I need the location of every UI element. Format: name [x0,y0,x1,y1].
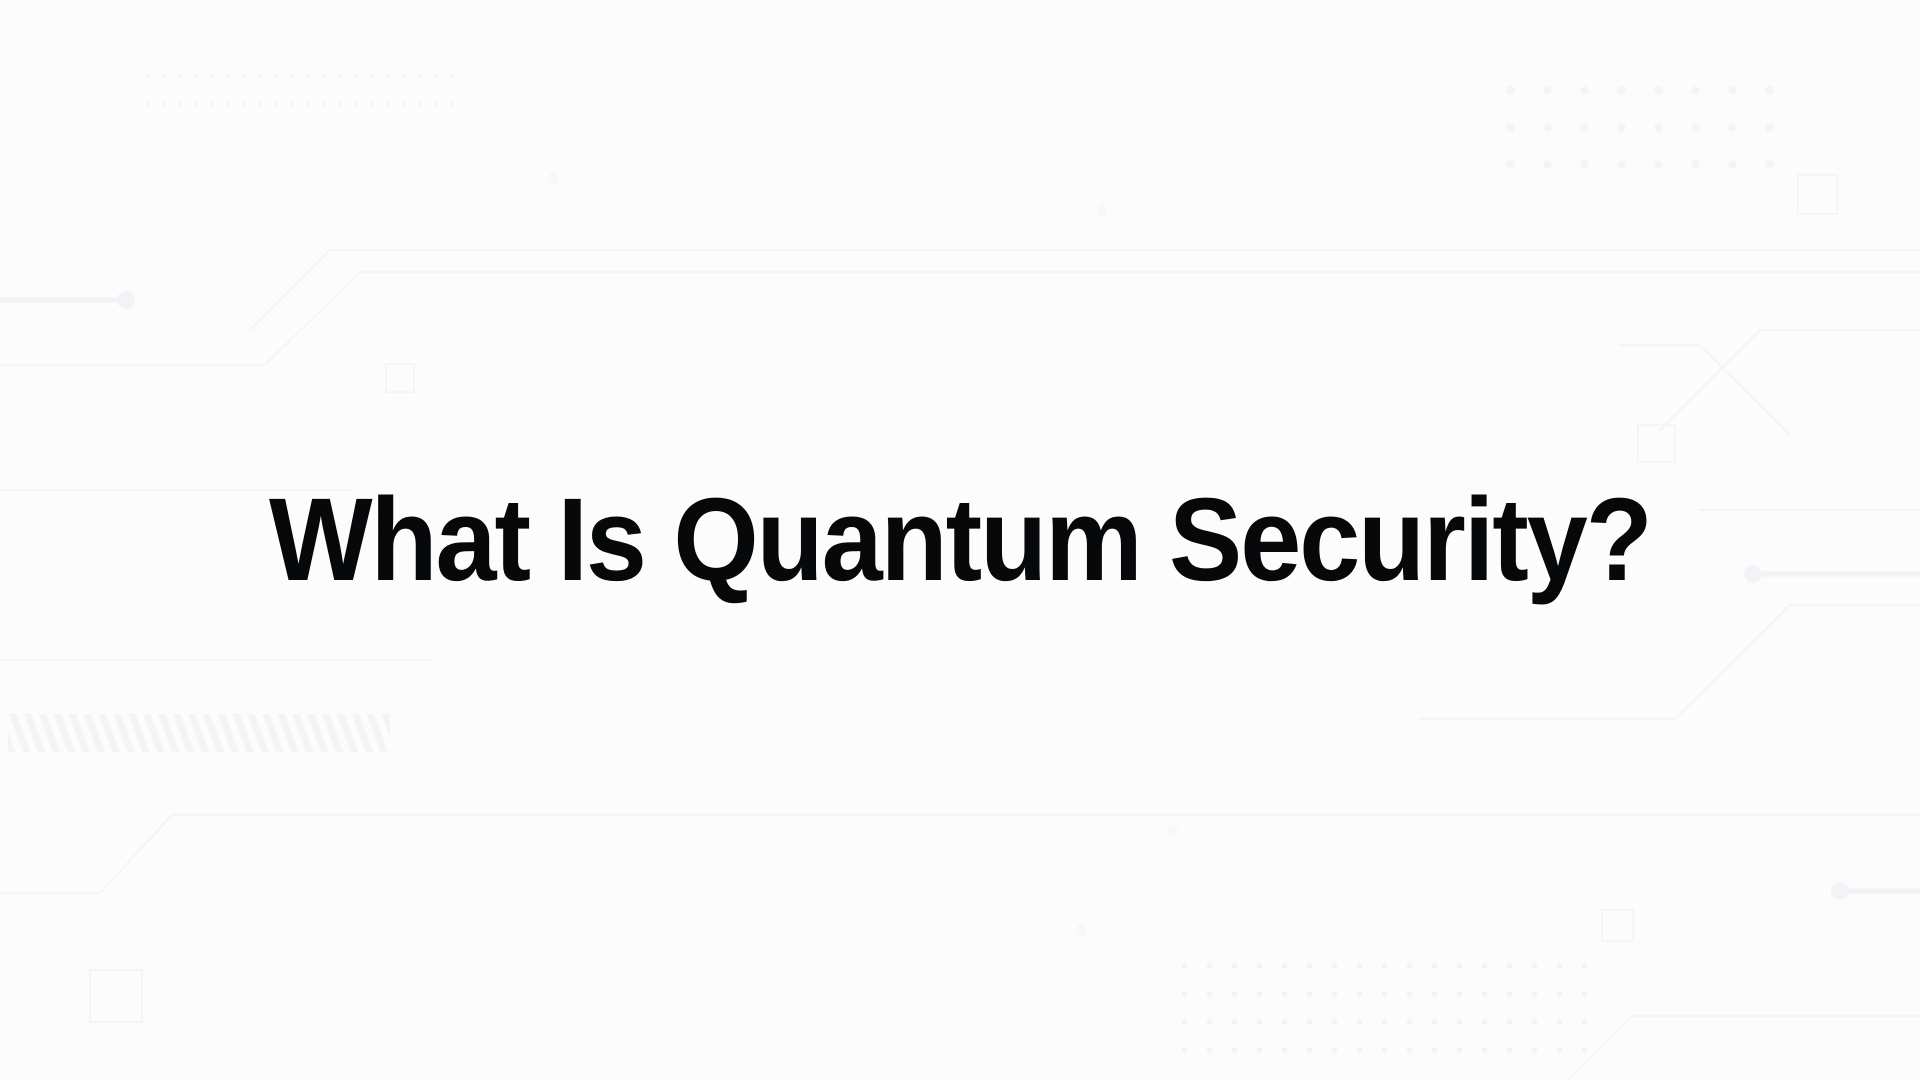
title-container: What Is Quantum Security? [0,0,1920,1080]
slide-canvas: What Is Quantum Security? [0,0,1920,1080]
page-title: What Is Quantum Security? [269,481,1651,599]
